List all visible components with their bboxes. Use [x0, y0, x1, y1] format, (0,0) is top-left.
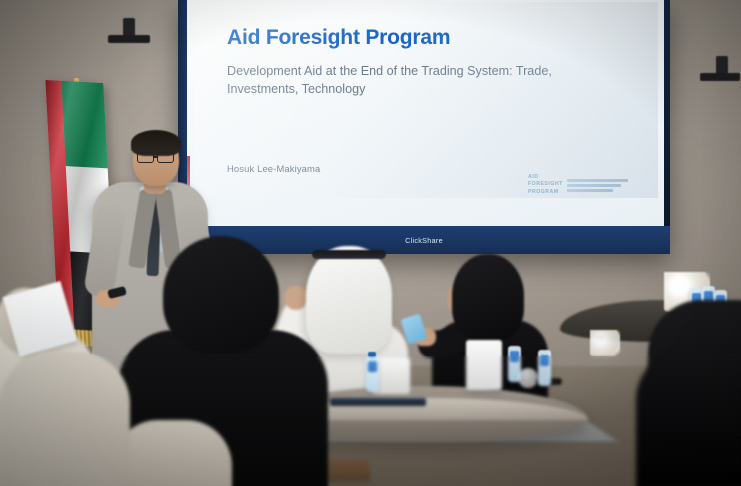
presentation-display[interactable]: Aid Foresight Program Development Aid at…: [178, 0, 670, 254]
presenter-glasses-bridge: [153, 156, 158, 158]
logo-line-3: PROGRAM: [528, 189, 563, 197]
conference-room-photo: Aid Foresight Program Development Aid at…: [0, 0, 741, 486]
foreground-headscarf: [163, 236, 279, 354]
table-microphone-head: [518, 368, 538, 388]
right-attendee-shoulder: [636, 350, 741, 486]
logo-line-1: AID: [528, 174, 563, 182]
presenter-glasses-left-lens: [137, 152, 154, 163]
kandura-hand: [284, 286, 308, 310]
tissue-box-center: [466, 340, 502, 390]
slide-canvas: Aid Foresight Program Development Aid at…: [186, 0, 664, 226]
bottle-cap-c1: [368, 352, 376, 357]
slide-author: Hosuk Lee-Makiyama: [227, 163, 320, 174]
display-screen-area: Aid Foresight Program Development Aid at…: [186, 0, 664, 226]
water-bottle-c1: [366, 356, 379, 392]
wall-speaker-left-icon: [108, 18, 150, 48]
hijab-scarf: [452, 254, 524, 340]
kandura-agal-band: [312, 250, 386, 259]
chair-foreground-center: [112, 420, 232, 486]
laptop-on-table: [330, 398, 426, 406]
water-bottle-c3: [538, 350, 551, 386]
slide-title: Aid Foresight Program: [227, 26, 450, 50]
presenter-glasses-right-lens: [157, 152, 174, 163]
logo-arabic-script-icon: [567, 178, 628, 192]
kandura-headdress: [306, 246, 392, 354]
logo-line-2: FORESIGHT: [528, 181, 563, 189]
status-bar-app-label: ClickShare: [178, 236, 670, 245]
chair-foreground-left: [0, 352, 130, 486]
flower-arrangement-left-edge: [590, 330, 620, 356]
wall-speaker-right-icon: [700, 56, 740, 86]
slide-subtitle: Development Aid at the End of the Tradin…: [227, 62, 557, 99]
water-bottle-c2: [508, 346, 521, 382]
aid-foresight-program-logo: AID FORESIGHT PROGRAM: [528, 168, 628, 202]
